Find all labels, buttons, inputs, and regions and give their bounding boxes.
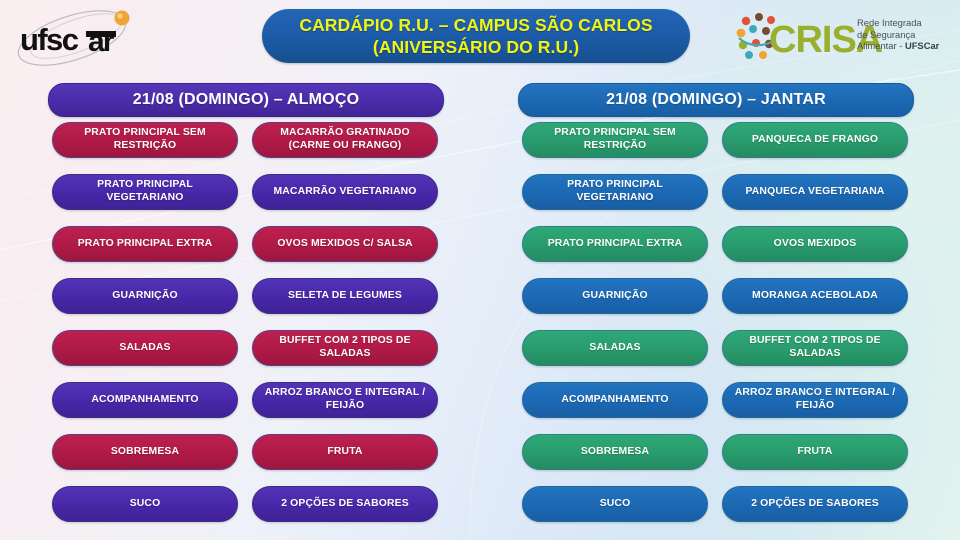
dinner-category-pill[interactable]: SUCO: [522, 486, 708, 522]
dinner-section-header: 21/08 (DOMINGO) – JANTAR: [518, 83, 914, 117]
slide-title-banner: CARDÁPIO R.U. – CAMPUS SÃO CARLOS (ANIVE…: [262, 9, 690, 63]
ufscar-logo: ufsc ar: [12, 6, 152, 68]
dinner-category-pill[interactable]: SALADAS: [522, 330, 708, 366]
menu-row: PRATO PRINCIPAL SEM RESTRIÇÃOPANQUECA DE…: [515, 122, 915, 174]
menu-row: SALADASBUFFET COM 2 TIPOS DE SALADAS: [515, 330, 915, 382]
crisa-tagline-line-3: Alimentar - UFSCar: [857, 40, 957, 52]
lunch-item-pill[interactable]: ARROZ BRANCO E INTEGRAL / FEIJÃO: [252, 382, 438, 418]
crisa-tagline: Rede Integrada de Segurança Alimentar - …: [857, 17, 957, 52]
menu-row: PRATO PRINCIPAL EXTRAOVOS MEXIDOS C/ SAL…: [45, 226, 445, 278]
lunch-item-pill[interactable]: SELETA DE LEGUMES: [252, 278, 438, 314]
lunch-category-pill[interactable]: PRATO PRINCIPAL VEGETARIANO: [52, 174, 238, 210]
svg-text:ufsc: ufsc: [20, 22, 79, 57]
crisa-tagline-line-2: de Segurança: [857, 29, 957, 41]
svg-text:ar: ar: [88, 25, 115, 58]
dinner-item-pill[interactable]: PANQUECA DE FRANGO: [722, 122, 908, 158]
dinner-category-pill[interactable]: PRATO PRINCIPAL VEGETARIANO: [522, 174, 708, 210]
menu-row: SOBREMESAFRUTA: [515, 434, 915, 486]
menu-row: GUARNIÇÃOMORANGA ACEBOLADA: [515, 278, 915, 330]
menu-row: SUCO2 OPÇÕES DE SABORES: [45, 486, 445, 538]
dinner-item-pill[interactable]: BUFFET COM 2 TIPOS DE SALADAS: [722, 330, 908, 366]
lunch-item-pill[interactable]: 2 OPÇÕES DE SABORES: [252, 486, 438, 522]
menu-row: ACOMPANHAMENTOARROZ BRANCO E INTEGRAL / …: [515, 382, 915, 434]
lunch-category-pill[interactable]: PRATO PRINCIPAL EXTRA: [52, 226, 238, 262]
dinner-category-pill[interactable]: PRATO PRINCIPAL EXTRA: [522, 226, 708, 262]
crisa-tagline-line-1: Rede Integrada: [857, 17, 957, 29]
lunch-category-pill[interactable]: SOBREMESA: [52, 434, 238, 470]
slide-title-line-2: (ANIVERSÁRIO DO R.U.): [299, 36, 652, 58]
menu-row: SALADASBUFFET COM 2 TIPOS DE SALADAS: [45, 330, 445, 382]
dinner-item-pill[interactable]: ARROZ BRANCO E INTEGRAL / FEIJÃO: [722, 382, 908, 418]
menu-row: ACOMPANHAMENTOARROZ BRANCO E INTEGRAL / …: [45, 382, 445, 434]
lunch-item-pill[interactable]: BUFFET COM 2 TIPOS DE SALADAS: [252, 330, 438, 366]
crisa-tagline-line-3-bold: UFSCar: [905, 40, 939, 51]
dinner-menu-column: PRATO PRINCIPAL SEM RESTRIÇÃOPANQUECA DE…: [515, 122, 915, 538]
menu-row: GUARNIÇÃOSELETA DE LEGUMES: [45, 278, 445, 330]
menu-row: PRATO PRINCIPAL VEGETARIANOMACARRÃO VEGE…: [45, 174, 445, 226]
menu-row: SOBREMESAFRUTA: [45, 434, 445, 486]
lunch-item-pill[interactable]: OVOS MEXIDOS C/ SALSA: [252, 226, 438, 262]
slide-title-line-1: CARDÁPIO R.U. – CAMPUS SÃO CARLOS: [299, 14, 652, 36]
menu-row: PRATO PRINCIPAL EXTRAOVOS MEXIDOS: [515, 226, 915, 278]
dinner-item-pill[interactable]: FRUTA: [722, 434, 908, 470]
dinner-category-pill[interactable]: ACOMPANHAMENTO: [522, 382, 708, 418]
dinner-category-pill[interactable]: GUARNIÇÃO: [522, 278, 708, 314]
dinner-category-pill[interactable]: PRATO PRINCIPAL SEM RESTRIÇÃO: [522, 122, 708, 158]
lunch-category-pill[interactable]: GUARNIÇÃO: [52, 278, 238, 314]
lunch-category-pill[interactable]: ACOMPANHAMENTO: [52, 382, 238, 418]
dinner-category-pill[interactable]: SOBREMESA: [522, 434, 708, 470]
lunch-item-pill[interactable]: MACARRÃO VEGETARIANO: [252, 174, 438, 210]
menu-row: PRATO PRINCIPAL VEGETARIANOPANQUECA VEGE…: [515, 174, 915, 226]
lunch-category-pill[interactable]: SALADAS: [52, 330, 238, 366]
menu-row: PRATO PRINCIPAL SEM RESTRIÇÃOMACARRÃO GR…: [45, 122, 445, 174]
dinner-item-pill[interactable]: PANQUECA VEGETARIANA: [722, 174, 908, 210]
lunch-category-pill[interactable]: SUCO: [52, 486, 238, 522]
lunch-item-pill[interactable]: MACARRÃO GRATINADO (CARNE OU FRANGO): [252, 122, 438, 158]
lunch-item-pill[interactable]: FRUTA: [252, 434, 438, 470]
lunch-menu-column: PRATO PRINCIPAL SEM RESTRIÇÃOMACARRÃO GR…: [45, 122, 445, 538]
dinner-item-pill[interactable]: 2 OPÇÕES DE SABORES: [722, 486, 908, 522]
crisa-tagline-line-3-prefix: Alimentar -: [857, 40, 905, 51]
dinner-item-pill[interactable]: MORANGA ACEBOLADA: [722, 278, 908, 314]
menu-row: SUCO2 OPÇÕES DE SABORES: [515, 486, 915, 538]
lunch-category-pill[interactable]: PRATO PRINCIPAL SEM RESTRIÇÃO: [52, 122, 238, 158]
menu-slide: ufsc ar CARDÁPIO R.U. – CAMPUS SÃO CARLO…: [0, 0, 960, 540]
lunch-section-header: 21/08 (DOMINGO) – ALMOÇO: [48, 83, 444, 117]
dinner-item-pill[interactable]: OVOS MEXIDOS: [722, 226, 908, 262]
